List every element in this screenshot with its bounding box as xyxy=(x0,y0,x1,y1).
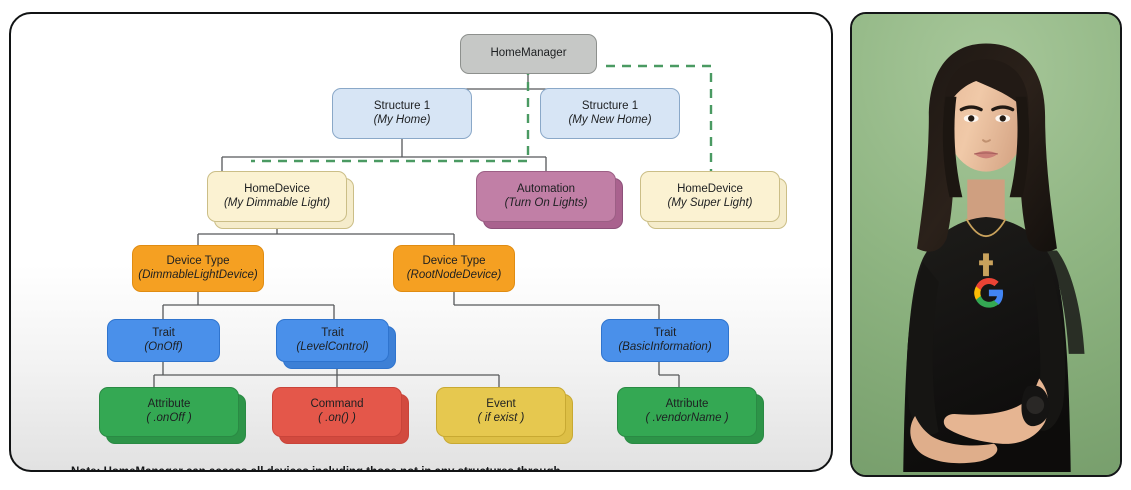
node-device-type-rootnode-labels: Device Type (RootNodeDevice) xyxy=(407,255,502,282)
node-command-on-labels: Command ( .on() ) xyxy=(310,398,363,425)
node-home-device-super-line1: HomeDevice xyxy=(667,183,752,197)
node-home-device-super-labels: HomeDevice (My Super Light) xyxy=(667,183,752,210)
diagram-note: Note: HomeManager can access all devices… xyxy=(71,462,771,472)
node-trait-levelcontrol-line2: (LevelControl) xyxy=(296,341,368,355)
node-home-device-dimmable-labels: HomeDevice (My Dimmable Light) xyxy=(224,183,330,210)
node-structure-my-home-line2: (My Home) xyxy=(374,114,431,128)
node-trait-levelcontrol[interactable]: Trait (LevelControl) xyxy=(276,319,389,362)
node-trait-basicinformation-labels: Trait (BasicInformation) xyxy=(618,327,711,354)
node-structure-my-new-home-labels: Structure 1 (My New Home) xyxy=(568,100,651,127)
presenter-video-panel[interactable] xyxy=(850,12,1122,477)
node-attribute-vendorname-line1: Attribute xyxy=(645,398,728,412)
diagram-note-text: Note: HomeManager can access all devices… xyxy=(71,466,561,472)
node-trait-basicinformation-line2: (BasicInformation) xyxy=(618,341,711,355)
node-device-type-dimmable-labels: Device Type (DimmableLightDevice) xyxy=(138,255,258,282)
node-home-device-dimmable-line2: (My Dimmable Light) xyxy=(224,197,330,211)
node-home-manager-labels: HomeManager xyxy=(490,47,566,61)
node-attribute-onoff-labels: Attribute ( .onOff ) xyxy=(146,398,191,425)
node-device-type-rootnode[interactable]: Device Type (RootNodeDevice) xyxy=(393,245,515,292)
node-command-on-line1: Command xyxy=(310,398,363,412)
node-trait-basicinformation-line1: Trait xyxy=(618,327,711,341)
node-trait-basicinformation[interactable]: Trait (BasicInformation) xyxy=(601,319,729,362)
node-attribute-onoff-line1: Attribute xyxy=(146,398,191,412)
node-structure-my-new-home-line2: (My New Home) xyxy=(568,114,651,128)
node-event-if-exist-line2: ( if exist ) xyxy=(478,412,525,426)
node-trait-levelcontrol-labels: Trait (LevelControl) xyxy=(296,327,368,354)
slide-card: HomeManager Structure 1 (My Home) Struct… xyxy=(9,12,833,472)
node-home-device-dimmable-line1: HomeDevice xyxy=(224,183,330,197)
node-event-if-exist-line1: Event xyxy=(478,398,525,412)
node-event-if-exist[interactable]: Event ( if exist ) xyxy=(436,387,566,437)
node-device-type-dimmable-line2: (DimmableLightDevice) xyxy=(138,269,258,283)
node-automation-line1: Automation xyxy=(505,183,588,197)
node-home-device-super[interactable]: HomeDevice (My Super Light) xyxy=(640,171,780,222)
node-structure-my-home-labels: Structure 1 (My Home) xyxy=(374,100,431,127)
node-device-type-rootnode-line1: Device Type xyxy=(407,255,502,269)
node-home-device-dimmable[interactable]: HomeDevice (My Dimmable Light) xyxy=(207,171,347,222)
node-home-device-super-line2: (My Super Light) xyxy=(667,197,752,211)
screenshot-root: HomeManager Structure 1 (My Home) Struct… xyxy=(0,0,1131,490)
node-device-type-rootnode-line2: (RootNodeDevice) xyxy=(407,269,502,283)
green-dashed-line-icon xyxy=(597,471,659,472)
node-automation[interactable]: Automation (Turn On Lights) xyxy=(476,171,616,222)
node-device-type-dimmable-line1: Device Type xyxy=(138,255,258,269)
node-attribute-vendorname-line2: ( .vendorName ) xyxy=(645,412,728,426)
node-trait-levelcontrol-line1: Trait xyxy=(296,327,368,341)
presenter-figure xyxy=(852,14,1120,472)
node-automation-labels: Automation (Turn On Lights) xyxy=(505,183,588,210)
node-home-manager-line1: HomeManager xyxy=(490,47,566,61)
node-command-on[interactable]: Command ( .on() ) xyxy=(272,387,402,437)
node-trait-onoff-line1: Trait xyxy=(144,327,182,341)
node-attribute-onoff[interactable]: Attribute ( .onOff ) xyxy=(99,387,239,437)
node-structure-my-home[interactable]: Structure 1 (My Home) xyxy=(332,88,472,139)
node-trait-onoff[interactable]: Trait (OnOff) xyxy=(107,319,220,362)
node-attribute-vendorname-labels: Attribute ( .vendorName ) xyxy=(645,398,728,425)
node-device-type-dimmable[interactable]: Device Type (DimmableLightDevice) xyxy=(132,245,264,292)
node-trait-onoff-labels: Trait (OnOff) xyxy=(144,327,182,354)
node-command-on-line2: ( .on() ) xyxy=(310,412,363,426)
node-structure-my-home-line1: Structure 1 xyxy=(374,100,431,114)
node-event-if-exist-labels: Event ( if exist ) xyxy=(478,398,525,425)
node-attribute-vendorname[interactable]: Attribute ( .vendorName ) xyxy=(617,387,757,437)
node-automation-line2: (Turn On Lights) xyxy=(505,197,588,211)
node-attribute-onoff-line2: ( .onOff ) xyxy=(146,412,191,426)
node-structure-my-new-home[interactable]: Structure 1 (My New Home) xyxy=(540,88,680,139)
node-trait-onoff-line2: (OnOff) xyxy=(144,341,182,355)
node-home-manager[interactable]: HomeManager xyxy=(460,34,597,74)
node-structure-my-new-home-line1: Structure 1 xyxy=(568,100,651,114)
